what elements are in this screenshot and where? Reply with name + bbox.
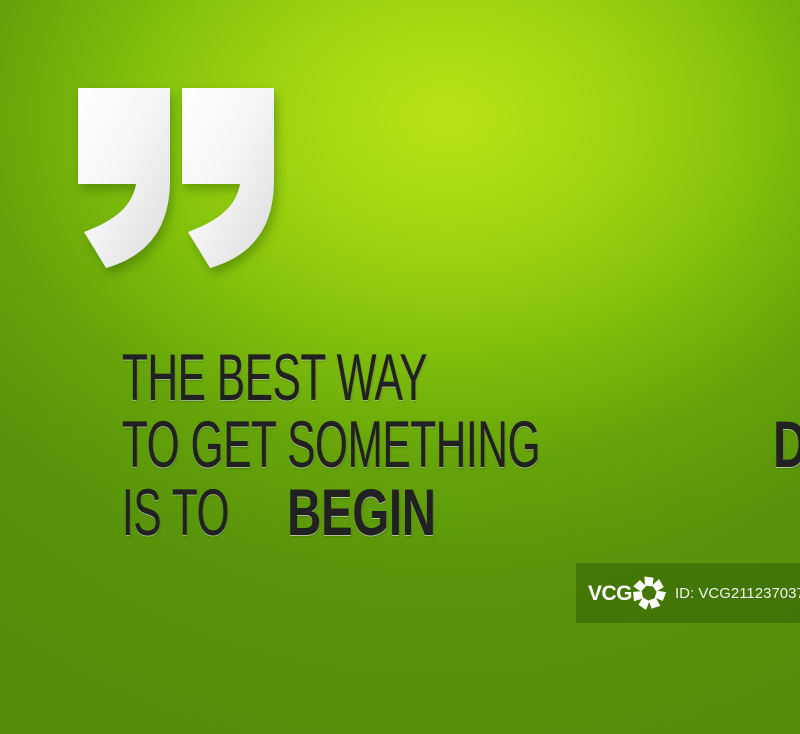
closing-quotation-mark-icon-2: [182, 88, 274, 268]
quote-text-block: THE BEST WAY TO GET SOMETHING DONE IS TO…: [122, 346, 772, 548]
quote-line-3-thin: IS TO: [122, 481, 229, 544]
quote-poster: THE BEST WAY TO GET SOMETHING DONE IS TO…: [0, 0, 800, 734]
quote-line-2-bold: DONE: [773, 413, 800, 476]
quote-line-2-thin: TO GET SOMETHING: [122, 413, 540, 476]
watermark-id-label: ID: VCG211237037051: [675, 586, 800, 601]
quote-line-3-bold: BEGIN: [287, 481, 436, 544]
vcg-wordmark: VCG: [588, 583, 632, 604]
quote-line-3: IS TO BEGIN: [122, 481, 772, 544]
quote-line-2: TO GET SOMETHING DONE: [122, 413, 772, 476]
vcg-burst-icon: [629, 573, 669, 613]
vcg-logo: VCG: [588, 573, 669, 613]
quote-line-1-thin: THE BEST WAY: [122, 346, 427, 409]
quotation-mark-group: [78, 88, 274, 268]
vcg-watermark: VCG: [576, 563, 800, 623]
closing-quotation-mark-icon: [78, 88, 170, 268]
quote-line-1: THE BEST WAY: [122, 346, 772, 409]
